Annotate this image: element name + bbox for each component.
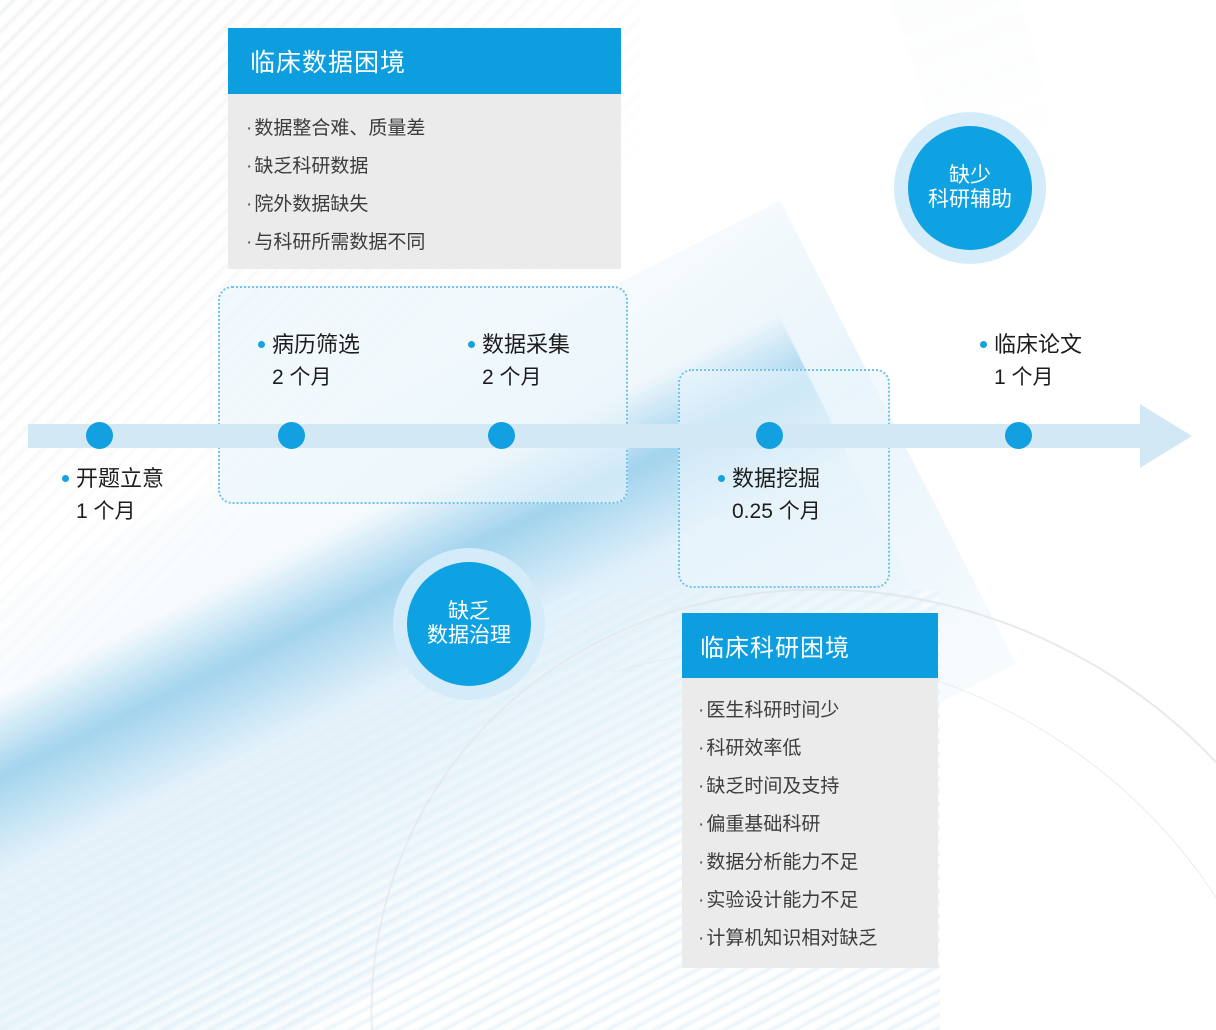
- bullet-middot-icon: ·: [698, 738, 704, 759]
- card-bullet-text: 医生科研时间少: [706, 700, 839, 721]
- milestone-title-text: 临床论文: [994, 332, 1082, 357]
- card-bullet-text: 计算机知识相对缺乏: [706, 928, 877, 949]
- timeline-bar: [28, 424, 1162, 448]
- timeline-arrow-icon: [1140, 404, 1192, 468]
- card-bullet-item: ·数据整合难、质量差: [246, 110, 601, 148]
- milestone-label-paper: 临床论文 1 个月: [980, 330, 1082, 396]
- badge-line-1: 缺少: [949, 164, 991, 188]
- card-bullet-text: 数据分析能力不足: [706, 852, 858, 873]
- card-bullet-text: 数据整合难、质量差: [254, 118, 425, 139]
- milestone-title-text: 病历筛选: [272, 332, 360, 357]
- milestone-label-topic: 开题立意 1 个月: [62, 464, 164, 530]
- card-bullet-text: 实验设计能力不足: [706, 890, 858, 911]
- milestone-label-collection: 数据采集 2 个月: [468, 330, 570, 396]
- bullet-middot-icon: ·: [246, 232, 252, 253]
- milestone-title-mining: 数据挖掘: [718, 464, 821, 494]
- badge-inner-circle: 缺少 科研辅助: [908, 126, 1032, 250]
- card-bullet-item: ·实验设计能力不足: [698, 882, 924, 920]
- infographic-canvas: 开题立意 1 个月 病历筛选 2 个月 数据采集 2 个月 数据挖掘 0.25 …: [0, 0, 1216, 1030]
- card-bullet-item: ·科研效率低: [698, 730, 924, 768]
- card-clinical-data-dilemma: 临床数据困境 ·数据整合难、质量差 ·缺乏科研数据 ·院外数据缺失 ·与科研所需…: [228, 28, 621, 269]
- milestone-dot-paper[interactable]: [1005, 422, 1032, 449]
- card-bullet-text: 缺乏时间及支持: [706, 776, 839, 797]
- milestone-duration-screening: 2 个月: [258, 360, 360, 396]
- milestone-title-collection: 数据采集: [468, 330, 570, 360]
- badge-line-2: 数据治理: [427, 624, 511, 648]
- card-title-clinical-data-dilemma: 临床数据困境: [228, 28, 621, 94]
- bullet-middot-icon: ·: [246, 194, 252, 215]
- milestone-title-text: 开题立意: [76, 466, 164, 491]
- milestone-title-screening: 病历筛选: [258, 330, 360, 360]
- bullet-dot-icon: [258, 341, 265, 348]
- milestone-label-mining: 数据挖掘 0.25 个月: [718, 464, 821, 530]
- milestone-duration-topic: 1 个月: [62, 494, 164, 530]
- badge-lack-research-support: 缺少 科研辅助: [894, 112, 1046, 264]
- card-bullet-text: 与科研所需数据不同: [254, 232, 425, 253]
- bullet-middot-icon: ·: [698, 852, 704, 873]
- milestone-duration-collection: 2 个月: [468, 360, 570, 396]
- card-bullet-text: 偏重基础科研: [706, 814, 820, 835]
- bullet-dot-icon: [980, 341, 987, 348]
- card-bullet-item: ·缺乏时间及支持: [698, 768, 924, 806]
- milestone-title-text: 数据挖掘: [732, 466, 820, 491]
- card-title-clinical-research-dilemma: 临床科研困境: [682, 613, 938, 678]
- milestone-dot-screening[interactable]: [278, 422, 305, 449]
- bullet-middot-icon: ·: [698, 776, 704, 797]
- card-bullet-item: ·计算机知识相对缺乏: [698, 920, 924, 958]
- badge-line-1: 缺乏: [448, 600, 490, 624]
- bullet-middot-icon: ·: [698, 700, 704, 721]
- bullet-dot-icon: [718, 475, 725, 482]
- card-bullet-text: 院外数据缺失: [254, 194, 368, 215]
- milestone-dot-mining[interactable]: [756, 422, 783, 449]
- card-bullet-item: ·医生科研时间少: [698, 692, 924, 730]
- milestone-label-screening: 病历筛选 2 个月: [258, 330, 360, 396]
- badge-inner-circle: 缺乏 数据治理: [407, 562, 531, 686]
- bullet-middot-icon: ·: [246, 118, 252, 139]
- milestone-duration-paper: 1 个月: [980, 360, 1082, 396]
- bullet-middot-icon: ·: [698, 928, 704, 949]
- milestone-title-paper: 临床论文: [980, 330, 1082, 360]
- bullet-middot-icon: ·: [698, 814, 704, 835]
- bullet-dot-icon: [62, 475, 69, 482]
- milestone-dot-collection[interactable]: [488, 422, 515, 449]
- card-clinical-research-dilemma: 临床科研困境 ·医生科研时间少 ·科研效率低 ·缺乏时间及支持 ·偏重基础科研 …: [682, 613, 938, 968]
- card-bullet-item: ·缺乏科研数据: [246, 148, 601, 186]
- card-bullet-text: 科研效率低: [706, 738, 801, 759]
- bullet-dot-icon: [468, 341, 475, 348]
- milestone-title-text: 数据采集: [482, 332, 570, 357]
- card-bullet-item: ·院外数据缺失: [246, 186, 601, 224]
- milestone-duration-mining: 0.25 个月: [718, 494, 821, 530]
- badge-line-2: 科研辅助: [928, 188, 1012, 212]
- card-body-clinical-data-dilemma: ·数据整合难、质量差 ·缺乏科研数据 ·院外数据缺失 ·与科研所需数据不同: [228, 94, 621, 269]
- badge-lack-data-governance: 缺乏 数据治理: [393, 548, 545, 700]
- milestone-dot-topic[interactable]: [86, 422, 113, 449]
- card-bullet-text: 缺乏科研数据: [254, 156, 368, 177]
- card-bullet-item: ·偏重基础科研: [698, 806, 924, 844]
- milestone-title-topic: 开题立意: [62, 464, 164, 494]
- card-body-clinical-research-dilemma: ·医生科研时间少 ·科研效率低 ·缺乏时间及支持 ·偏重基础科研 ·数据分析能力…: [682, 678, 938, 968]
- card-bullet-item: ·与科研所需数据不同: [246, 224, 601, 262]
- bullet-middot-icon: ·: [246, 156, 252, 177]
- bullet-middot-icon: ·: [698, 890, 704, 911]
- card-bullet-item: ·数据分析能力不足: [698, 844, 924, 882]
